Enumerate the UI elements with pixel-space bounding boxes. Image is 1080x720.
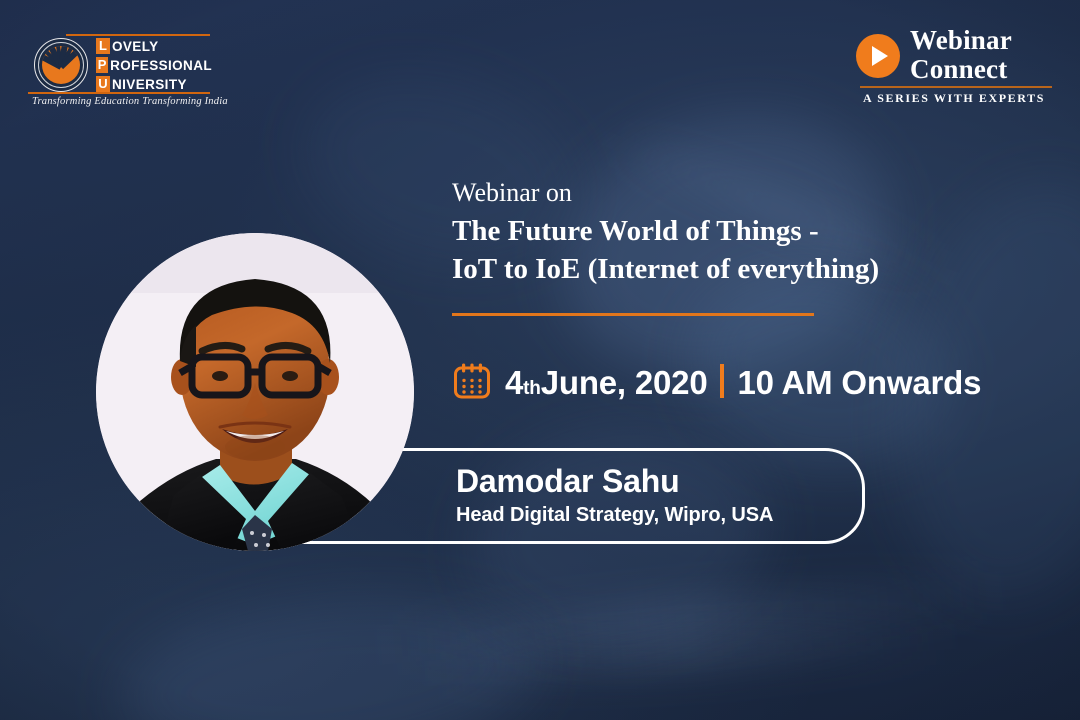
speaker-role: Head Digital Strategy, Wipro, USA: [456, 502, 773, 528]
calendar-icon: [452, 361, 492, 401]
headline-block: Webinar on The Future World of Things - …: [452, 176, 1012, 288]
webinar-connect-logo: Webinar Connect A SERIES WITH EXPERTS: [856, 26, 1052, 108]
webinar-connect-wordmark: Webinar Connect: [910, 26, 1012, 84]
webinar-connect-line2: Connect: [910, 55, 1012, 84]
lpu-wordmark-line: U NIVERSITY: [96, 75, 212, 93]
speaker-photo: [96, 233, 414, 551]
title-divider: [452, 313, 814, 316]
headline-title: The Future World of Things - IoT to IoE …: [452, 212, 1012, 288]
lpu-word-professional: ROFESSIONAL: [110, 58, 212, 73]
datetime-separator: [720, 364, 724, 398]
datetime-block: 4th June, 2020 10 AM Onwards: [452, 356, 981, 406]
webinar-connect-line1: Webinar: [910, 26, 1012, 55]
play-icon: [856, 34, 900, 78]
webinar-connect-rule: [860, 86, 1052, 88]
lpu-cap-p: P: [96, 57, 108, 73]
lpu-wordmark-line: L OVELY: [96, 37, 212, 55]
speaker-portrait: [96, 233, 414, 551]
lpu-seal-icon: [34, 38, 88, 92]
date-day-number: 4: [505, 364, 523, 402]
lpu-word-university: NIVERSITY: [112, 77, 187, 92]
date-rest: June, 2020: [541, 364, 708, 402]
lpu-seal-disc: [42, 46, 80, 84]
lpu-cap-l: L: [96, 38, 110, 54]
webinar-connect-subtitle: A SERIES WITH EXPERTS: [856, 91, 1052, 106]
lpu-cap-u: U: [96, 76, 110, 92]
lpu-rule-top: [66, 34, 210, 36]
speaker-details: Damodar Sahu Head Digital Strategy, Wipr…: [456, 462, 773, 528]
lpu-tagline: Transforming Education Transforming Indi…: [32, 96, 210, 107]
datetime-text: 4th June, 2020 10 AM Onwards: [505, 360, 981, 402]
lpu-logo: L OVELY P ROFESSIONAL U NIVERSITY Transf…: [28, 30, 210, 118]
speaker-name: Damodar Sahu: [456, 462, 773, 500]
lpu-wordmark: L OVELY P ROFESSIONAL U NIVERSITY: [96, 37, 212, 94]
lpu-word-lovely: OVELY: [112, 39, 159, 54]
headline-kicker: Webinar on: [452, 176, 1012, 210]
lpu-rule-bottom: [28, 92, 210, 94]
lpu-wordmark-line: P ROFESSIONAL: [96, 56, 212, 74]
webinar-poster: L OVELY P ROFESSIONAL U NIVERSITY Transf…: [0, 0, 1080, 720]
webinar-time: 10 AM Onwards: [737, 364, 981, 402]
